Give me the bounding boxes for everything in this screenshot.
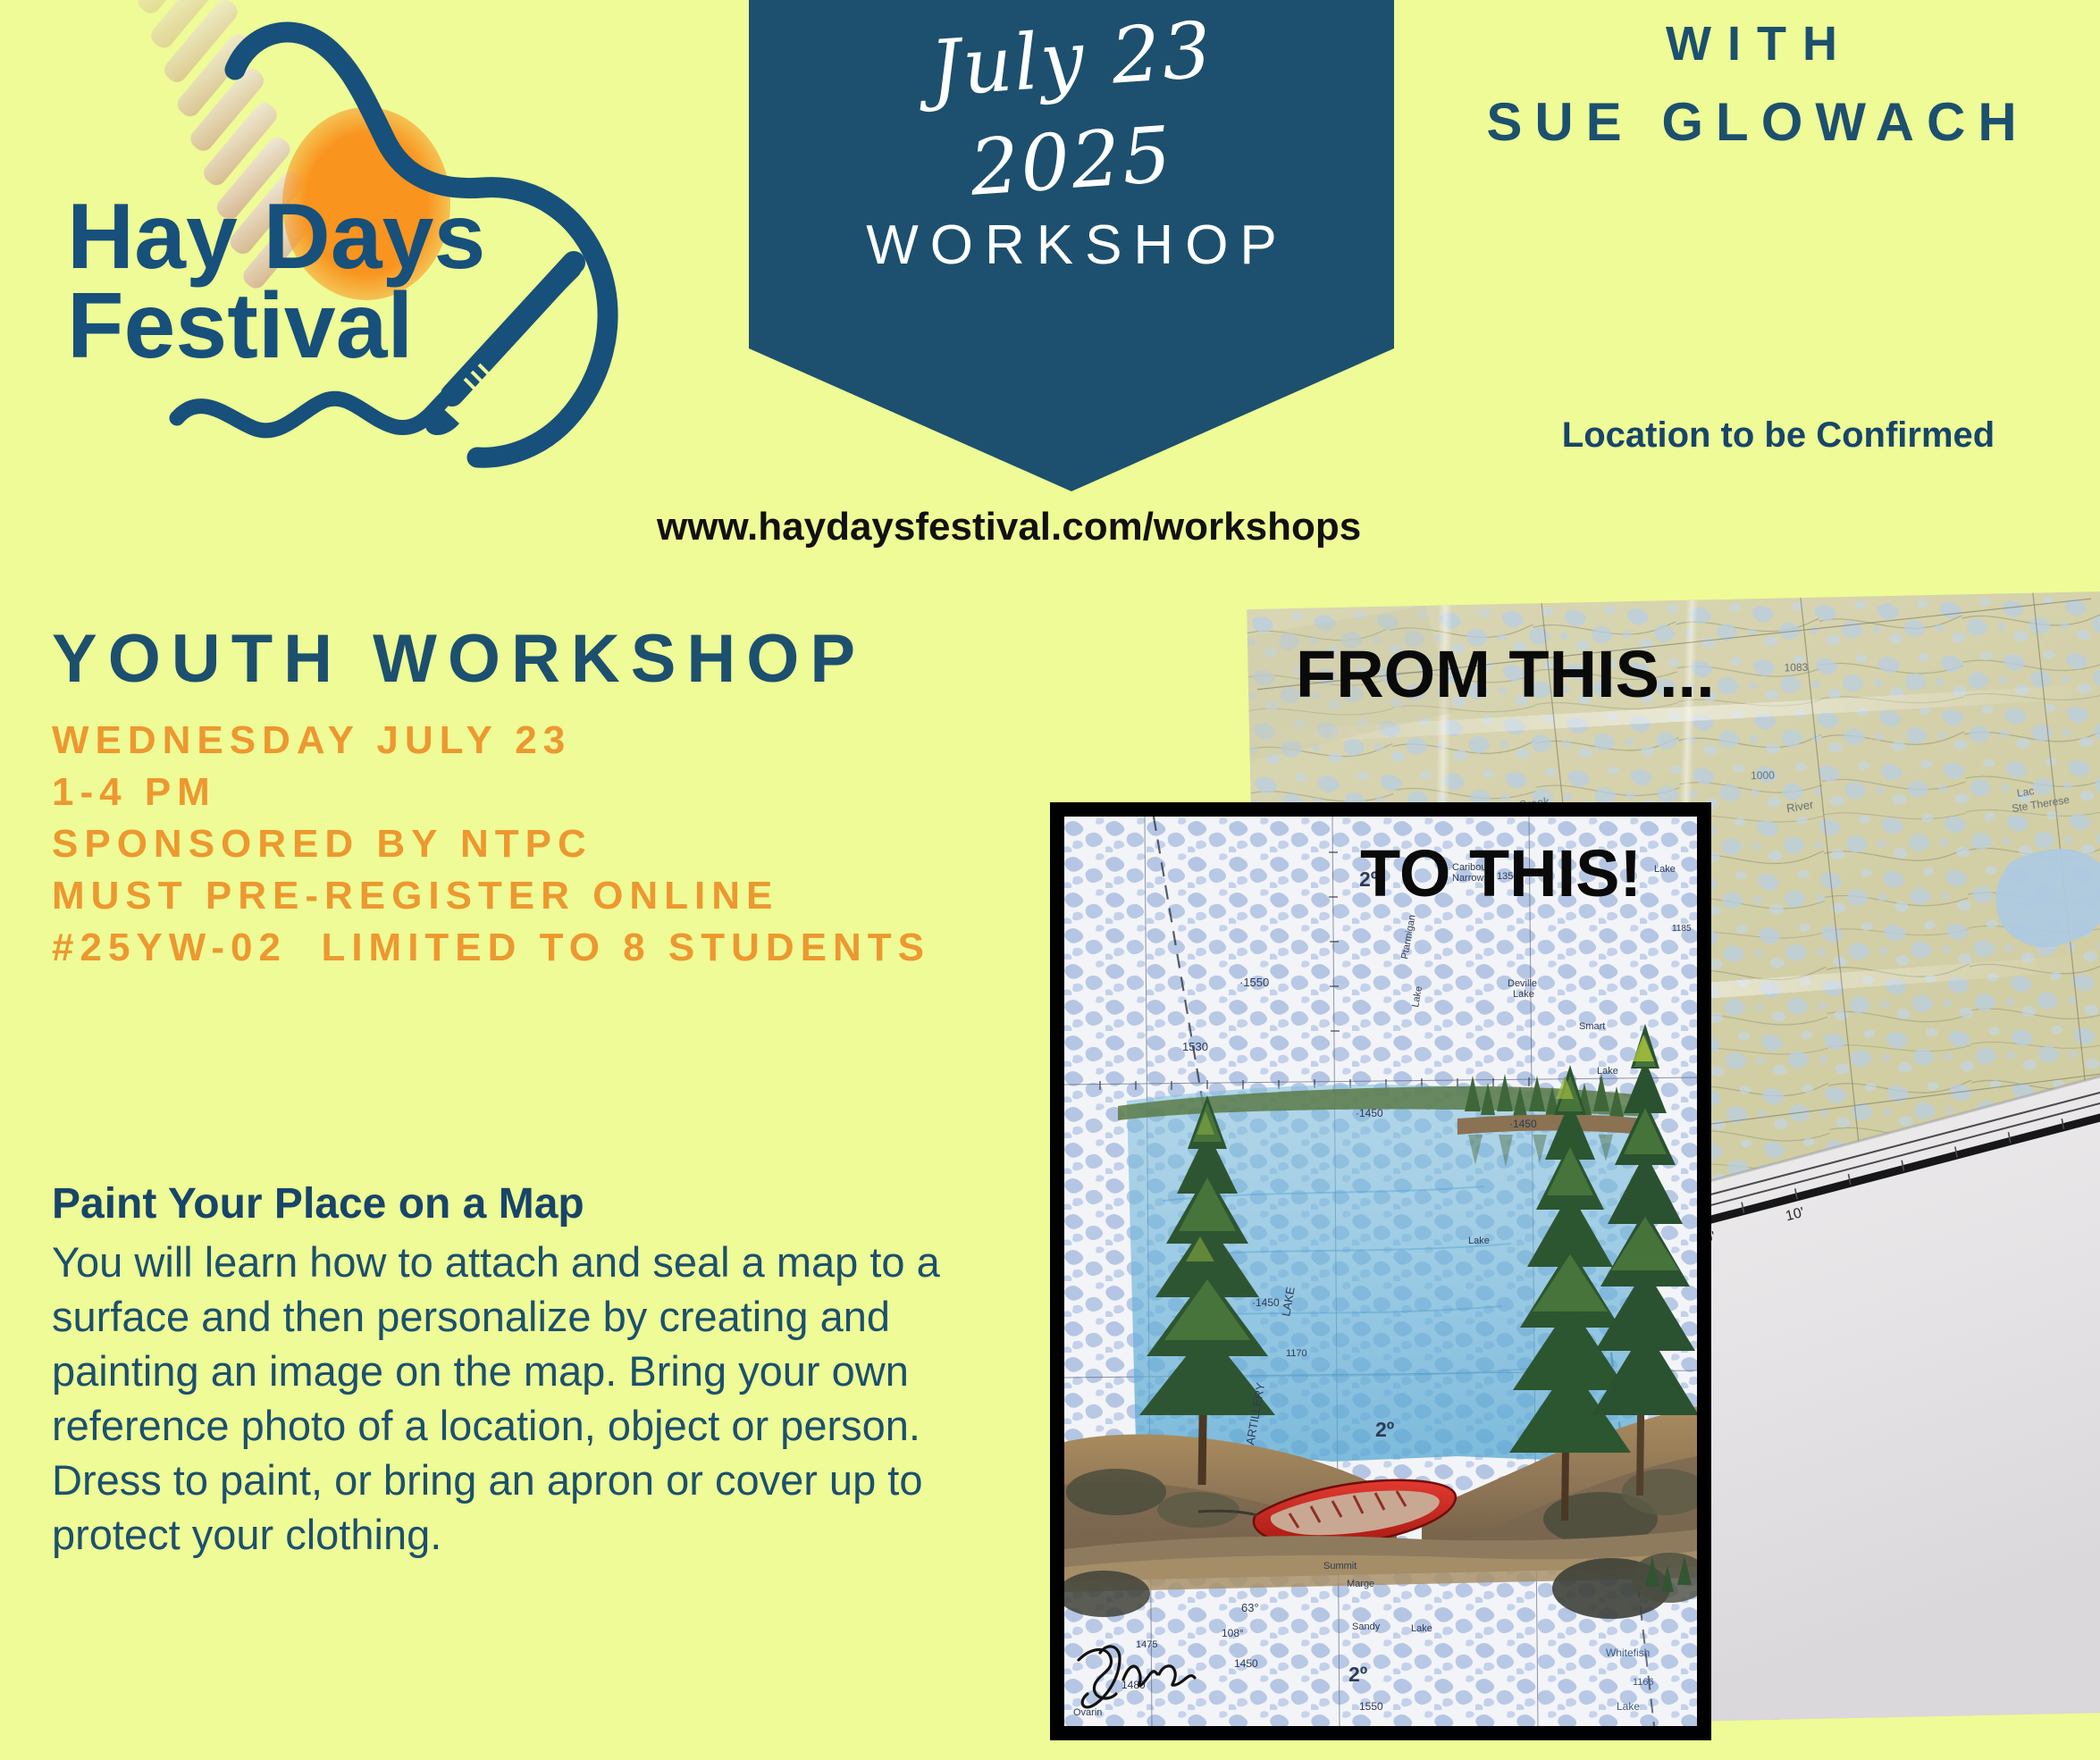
logo-text-line1: Hay Days <box>67 185 485 289</box>
painted-map-artwork: 2º 2º 2º ·1550 1530 ·1450 ·1450 ·1450 11… <box>1050 802 1711 1740</box>
description-body: You will learn how to attach and seal a … <box>52 1235 1026 1563</box>
svg-text:2º: 2º <box>1375 1418 1394 1441</box>
svg-text:1166: 1166 <box>1633 1677 1654 1688</box>
svg-text:Lake: Lake <box>1411 1623 1432 1634</box>
description-title: Paint Your Place on a Map <box>52 1178 1026 1231</box>
svg-text:108°: 108° <box>1222 1627 1244 1639</box>
banner-date-line2: 2025 <box>747 99 1397 224</box>
svg-text:Sandy: Sandy <box>1352 1622 1381 1632</box>
svg-text:Lake: Lake <box>1468 1236 1490 1246</box>
svg-text:Lake: Lake <box>1513 989 1534 1000</box>
svg-text:Summit: Summit <box>1323 1561 1357 1571</box>
wave-line-icon <box>177 398 445 431</box>
svg-text:·1450: ·1450 <box>1356 1107 1383 1119</box>
banner-date-line1: July 23 <box>747 0 1397 122</box>
svg-text:Whitefish: Whitefish <box>1606 1647 1650 1659</box>
location-note: Location to be Confirmed <box>1466 415 2091 456</box>
svg-text:Lake: Lake <box>1654 864 1676 875</box>
svg-text:Deville: Deville <box>1508 978 1537 989</box>
svg-text:1170: 1170 <box>1286 1348 1307 1359</box>
youth-workshop-title: YOUTH WORKSHOP <box>52 625 1035 693</box>
from-this-label: FROM THIS... <box>1296 636 1715 712</box>
svg-text:1185: 1185 <box>1672 924 1692 934</box>
svg-text:Marge: Marge <box>1347 1579 1374 1589</box>
svg-text:1000: 1000 <box>1751 769 1775 783</box>
svg-text:·1450: ·1450 <box>1509 1118 1537 1130</box>
svg-text:Lake: Lake <box>1597 1066 1618 1077</box>
youth-detail-code-capacity: #25YW-02 LIMITED TO 8 STUDENTS <box>52 922 1035 974</box>
youth-detail-sponsor: SPONSORED BY NTPC <box>52 818 1035 870</box>
logo-text-line2: Festival <box>67 274 413 378</box>
hay-days-festival-logo: Hay Days Festival <box>18 0 661 500</box>
presenter-block: WITH SUE GLOWACH <box>1412 16 2091 153</box>
workshop-date-banner: July 23 2025 WORKSHOP <box>749 0 1394 491</box>
website-url[interactable]: www.haydaysfestival.com/workshops <box>657 505 1361 549</box>
svg-text:·1450: ·1450 <box>1252 1296 1280 1309</box>
youth-detail-register: MUST PRE-REGISTER ONLINE <box>52 870 1035 922</box>
svg-text:Smart: Smart <box>1579 1021 1605 1032</box>
to-this-label: TO THIS! <box>1360 835 1642 911</box>
description-block: Paint Your Place on a Map You will learn… <box>52 1178 1026 1563</box>
svg-text:1475: 1475 <box>1136 1639 1157 1650</box>
svg-text:63°: 63° <box>1241 1601 1259 1614</box>
svg-text:1083: 1083 <box>1784 661 1808 675</box>
svg-text:1450: 1450 <box>1234 1657 1258 1670</box>
youth-detail-date: WEDNESDAY JULY 23 <box>52 715 1035 767</box>
svg-text:1530: 1530 <box>1182 1040 1208 1053</box>
youth-workshop-block: YOUTH WORKSHOP WEDNESDAY JULY 23 1-4 PM … <box>52 625 1035 974</box>
svg-text:1550: 1550 <box>1359 1700 1383 1713</box>
svg-text:Lake: Lake <box>1617 1700 1640 1713</box>
presenter-name: SUE GLOWACH <box>1412 91 2091 153</box>
presenter-with-label: WITH <box>1412 16 2091 71</box>
svg-text:·1550: ·1550 <box>1239 976 1269 989</box>
youth-detail-time: 1-4 PM <box>52 767 1035 818</box>
banner-workshop-label: WORKSHOP <box>749 214 1394 277</box>
svg-text:2º: 2º <box>1348 1663 1367 1686</box>
svg-text:Ovarin: Ovarin <box>1073 1707 1102 1718</box>
